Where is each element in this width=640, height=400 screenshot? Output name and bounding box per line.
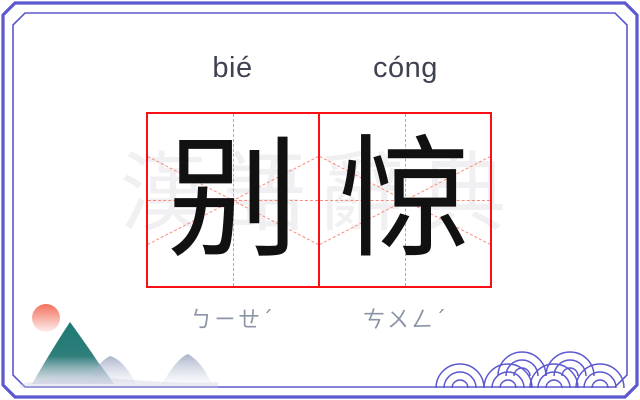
mountain-main <box>32 322 114 384</box>
pinyin-char-1: bié <box>146 44 319 92</box>
mountain-secondary <box>86 356 136 384</box>
sun-icon <box>32 304 60 332</box>
hanzi-char-2: 惊 <box>320 114 490 286</box>
mountain-far <box>162 354 212 384</box>
grid-cell-1: 别 <box>148 114 318 286</box>
mist-band <box>20 378 218 388</box>
wave-arc-front-1 <box>436 364 484 388</box>
zhuyin-row: ㄅㄧㄝˊ ㄘㄨㄥˊ <box>146 300 492 336</box>
wave-arc-back-1 <box>498 352 546 376</box>
hanzi-char-1: 别 <box>148 114 318 286</box>
pinyin-char-2: cóng <box>319 44 492 92</box>
flashcard-root: 漢語辭典 bié cóng 别 惊 ㄅㄧㄝˊ ㄘㄨㄥˊ <box>0 0 640 400</box>
wave-arc-front-4 <box>576 364 624 388</box>
wave-arc-back-2 <box>546 352 594 376</box>
wave-arc-front-3 <box>530 364 578 388</box>
zhuyin-char-2: ㄘㄨㄥˊ <box>319 300 492 336</box>
pinyin-row: bié cóng <box>146 44 492 92</box>
grid-cell-2: 惊 <box>318 114 490 286</box>
zhuyin-char-1: ㄅㄧㄝˊ <box>146 300 319 336</box>
character-grid: 别 惊 <box>146 112 492 288</box>
wave-arc-front-2 <box>484 364 532 388</box>
